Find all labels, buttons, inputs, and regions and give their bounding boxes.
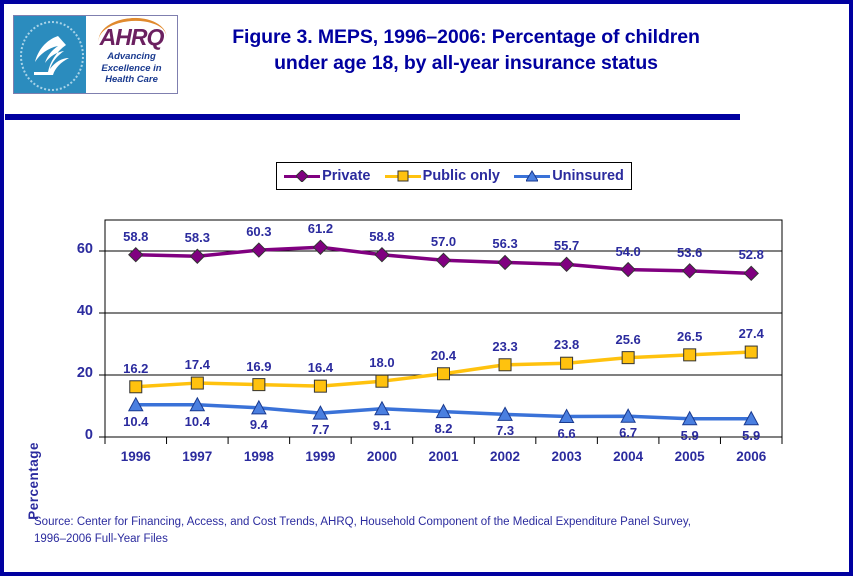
legend-key-public-only xyxy=(385,168,421,184)
data-point-label: 16.4 xyxy=(297,360,343,375)
data-point xyxy=(130,381,142,393)
data-point-label: 26.5 xyxy=(667,329,713,344)
data-point-label: 61.2 xyxy=(297,221,343,236)
y-tick-label: 20 xyxy=(59,365,93,381)
x-tick-label: 2004 xyxy=(603,449,653,464)
data-point-label: 16.2 xyxy=(113,361,159,376)
x-tick-label: 2002 xyxy=(480,449,530,464)
data-point xyxy=(561,357,573,369)
x-tick-label: 2005 xyxy=(665,449,715,464)
legend-label-uninsured: Uninsured xyxy=(552,168,624,184)
data-point-label: 57.0 xyxy=(421,234,467,249)
data-point xyxy=(314,380,326,392)
legend-item-public-only[interactable]: Public only xyxy=(385,168,500,184)
line-chart: Percentage 0204060 199619971998199920002… xyxy=(4,194,849,484)
data-point-label: 9.1 xyxy=(359,418,405,433)
ahrq-logo: AHRQ Advancing Excellence in Health Care xyxy=(13,15,178,94)
data-point-label: 54.0 xyxy=(605,244,651,259)
ahrq-tagline-line3: Health Care xyxy=(86,74,177,86)
figure-title-line1: Figure 3. MEPS, 1996–2006: Percentage of… xyxy=(186,24,746,50)
data-point-label: 6.7 xyxy=(605,425,651,440)
data-point-label: 53.6 xyxy=(667,245,713,260)
data-point-label: 6.6 xyxy=(544,426,590,441)
data-point-label: 5.9 xyxy=(728,428,774,443)
data-point-label: 60.3 xyxy=(236,224,282,239)
ahrq-wordmark: AHRQ Advancing Excellence in Health Care xyxy=(86,16,177,93)
y-tick-label: 40 xyxy=(59,303,93,319)
y-axis-title: Percentage xyxy=(26,442,44,520)
x-tick-label: 2006 xyxy=(726,449,776,464)
data-point-label: 7.7 xyxy=(297,422,343,437)
data-point-label: 20.4 xyxy=(421,348,467,363)
data-point-label: 10.4 xyxy=(174,414,220,429)
ahrq-tagline-line1: Advancing xyxy=(86,51,177,63)
data-point xyxy=(253,379,265,391)
x-tick-label: 1999 xyxy=(295,449,345,464)
x-tick-label: 1997 xyxy=(172,449,222,464)
eagle-glyph xyxy=(28,32,72,78)
figure-header: AHRQ Advancing Excellence in Health Care… xyxy=(4,4,849,106)
data-point xyxy=(622,352,634,364)
data-point-label: 55.7 xyxy=(544,238,590,253)
data-point xyxy=(684,349,696,361)
data-point-label: 23.8 xyxy=(544,337,590,352)
chart-legend: Private Public only Uninsured xyxy=(276,162,632,190)
data-point-label: 8.2 xyxy=(421,421,467,436)
diamond-marker-icon xyxy=(296,170,308,182)
data-point-label: 5.9 xyxy=(667,428,713,443)
data-point xyxy=(499,359,511,371)
x-tick-label: 2001 xyxy=(419,449,469,464)
ahrq-tagline: Advancing Excellence in Health Care xyxy=(86,51,177,86)
x-tick-label: 1996 xyxy=(111,449,161,464)
figure-title-line2: under age 18, by all-year insurance stat… xyxy=(186,50,746,76)
data-point xyxy=(191,377,203,389)
data-point-label: 7.3 xyxy=(482,423,528,438)
source-line2: 1996–2006 Full-Year Files xyxy=(34,531,824,548)
data-point-label: 27.4 xyxy=(728,326,774,341)
legend-label-public-only: Public only xyxy=(423,168,500,184)
legend-label-private: Private xyxy=(322,168,370,184)
data-point-label: 58.8 xyxy=(113,229,159,244)
legend-key-private xyxy=(284,168,320,184)
x-tick-label: 1998 xyxy=(234,449,284,464)
data-point-label: 17.4 xyxy=(174,357,220,372)
triangle-marker-icon xyxy=(526,170,538,182)
x-tick-label: 2000 xyxy=(357,449,407,464)
source-line1: Source: Center for Financing, Access, an… xyxy=(34,514,824,531)
figure-title: Figure 3. MEPS, 1996–2006: Percentage of… xyxy=(186,24,746,76)
legend-item-private[interactable]: Private xyxy=(284,168,370,184)
data-point-label: 23.3 xyxy=(482,339,528,354)
data-point-label: 10.4 xyxy=(113,414,159,429)
data-point-label: 58.3 xyxy=(174,230,220,245)
legend-key-uninsured xyxy=(514,168,550,184)
data-point xyxy=(376,375,388,387)
data-point-label: 18.0 xyxy=(359,355,405,370)
data-point xyxy=(745,346,757,358)
data-point xyxy=(438,368,450,380)
source-note: Source: Center for Financing, Access, an… xyxy=(34,514,824,548)
y-tick-label: 0 xyxy=(59,427,93,443)
data-point-label: 58.8 xyxy=(359,229,405,244)
data-point-label: 52.8 xyxy=(728,247,774,262)
data-point-label: 16.9 xyxy=(236,359,282,374)
y-tick-label: 60 xyxy=(59,241,93,257)
x-tick-label: 2003 xyxy=(542,449,592,464)
data-point-label: 25.6 xyxy=(605,332,651,347)
figure-page: AHRQ Advancing Excellence in Health Care… xyxy=(0,0,853,576)
square-marker-icon xyxy=(397,170,409,182)
ahrq-arc-icon xyxy=(97,16,167,46)
legend-item-uninsured[interactable]: Uninsured xyxy=(514,168,624,184)
header-divider xyxy=(5,114,740,120)
hhs-eagle-seal-icon xyxy=(14,16,86,93)
ahrq-tagline-line2: Excellence in xyxy=(86,63,177,75)
data-point-label: 56.3 xyxy=(482,236,528,251)
data-point-label: 9.4 xyxy=(236,417,282,432)
